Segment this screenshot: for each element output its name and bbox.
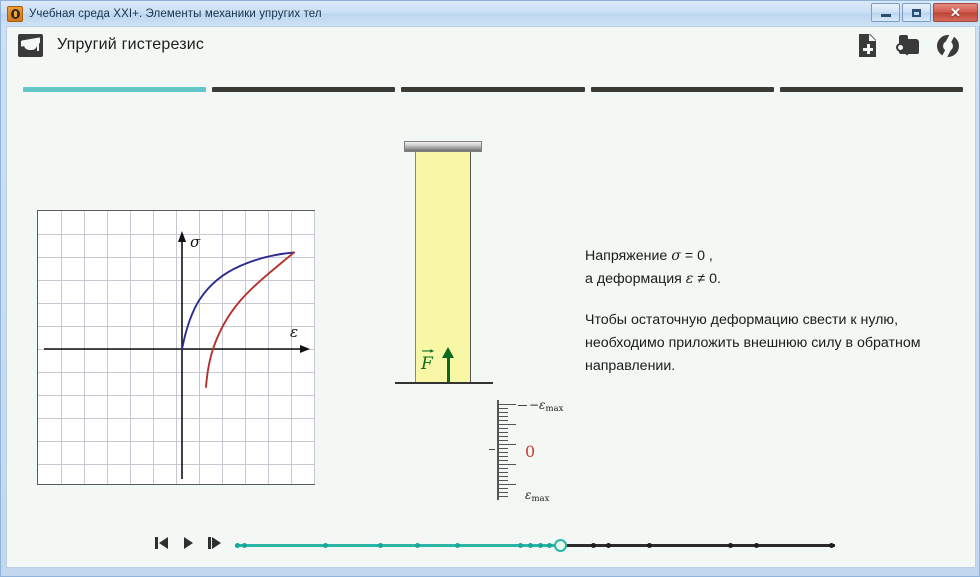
- ruler-tick: [497, 488, 508, 489]
- window-controls: ✕: [871, 3, 978, 22]
- ruler-tick: [497, 460, 508, 461]
- ruler-zero-dash: [489, 449, 495, 450]
- ruler-tick: [497, 412, 508, 413]
- timeline-progress-filled: [235, 544, 561, 547]
- ruler-label-negative-max: −εmax: [529, 398, 563, 414]
- timeline-node[interactable]: [415, 543, 420, 548]
- ruler-label-positive-max: εmax: [525, 488, 549, 504]
- ruler-tick: [497, 476, 508, 477]
- close-icon: ✕: [950, 6, 961, 19]
- unloading-curve: [206, 253, 294, 388]
- play-button[interactable]: [181, 535, 198, 551]
- timeline-node[interactable]: [754, 543, 759, 548]
- chart-plot-area: [38, 211, 316, 486]
- text-line-1: Напряжение σ = 0 ,: [585, 245, 965, 268]
- ruler-tick: [497, 468, 508, 469]
- tab-section-1[interactable]: [23, 87, 206, 92]
- force-letter: F: [421, 354, 433, 374]
- timeline-node[interactable]: [538, 543, 543, 548]
- step-back-icon: [159, 537, 168, 549]
- ruler-tick: [497, 452, 508, 453]
- window-title: Учебная среда XXI+. Элементы механики уп…: [29, 8, 322, 20]
- close-button[interactable]: ✕: [933, 3, 978, 22]
- doc-plus-horizontal: [863, 48, 873, 51]
- timeline-node[interactable]: [547, 543, 552, 548]
- cap-tassel: [37, 43, 39, 51]
- ruler-tick-major: [497, 484, 516, 485]
- ruler-tick: [497, 420, 508, 421]
- text-line-4: необходимо приложить внешнюю силу в обра…: [585, 332, 965, 355]
- ruler-tick: [497, 492, 508, 493]
- rod-base-line: [395, 382, 493, 384]
- timeline-node[interactable]: [242, 543, 247, 548]
- ruler-tick-major: [497, 444, 516, 445]
- maximize-icon: [912, 9, 921, 17]
- timeline-playhead[interactable]: [554, 539, 567, 552]
- timeline-node[interactable]: [518, 543, 523, 548]
- vector-overbar-icon: [422, 347, 434, 354]
- page-title: Упругий гистерезис: [57, 36, 204, 54]
- minimize-icon: [881, 14, 891, 17]
- timeline-node[interactable]: [829, 543, 834, 548]
- app-logo-icon: [7, 6, 23, 22]
- force-arrow-icon: [444, 347, 452, 382]
- force-label: F: [421, 354, 433, 374]
- playback-controls: [155, 535, 224, 551]
- clamp-support: [404, 141, 482, 152]
- step-back-button[interactable]: [155, 535, 172, 551]
- timeline-node[interactable]: [591, 543, 596, 548]
- timeline-node[interactable]: [728, 543, 733, 548]
- timeline-node[interactable]: [323, 543, 328, 548]
- minimize-button[interactable]: [871, 3, 900, 22]
- ruler-label-zero: 0: [525, 442, 535, 461]
- title-bar: Учебная среда XXI+. Элементы механики уп…: [1, 1, 980, 26]
- section-tab-strip: [23, 87, 963, 92]
- timeline-node[interactable]: [235, 543, 240, 548]
- application-window: Учебная среда XXI+. Элементы механики уп…: [0, 0, 980, 577]
- ruler-tick: [497, 440, 508, 441]
- chart-xlabel: ε: [290, 323, 298, 341]
- header-toolbar: [855, 33, 961, 59]
- ruler-tick: [497, 496, 508, 497]
- page-header: Упругий гистерезис: [7, 27, 975, 63]
- graduation-cap-icon: [18, 34, 43, 57]
- ruler-tick-major: [497, 404, 516, 405]
- ruler-tick: [497, 408, 508, 409]
- timeline-progress-remaining: [561, 544, 835, 547]
- timeline-node[interactable]: [455, 543, 460, 548]
- chart-ylabel: σ: [190, 233, 200, 251]
- playback-timeline: [7, 529, 975, 559]
- text-line-3: Чтобы остаточную деформацию свести к нул…: [585, 309, 965, 332]
- cap-body: [24, 43, 37, 50]
- ruler-tick: [497, 416, 508, 417]
- ruler-tick-major: [497, 424, 516, 425]
- ruler-top-dash: [518, 405, 527, 406]
- step-forward-button[interactable]: [207, 535, 224, 551]
- timeline-node[interactable]: [647, 543, 652, 548]
- tab-section-3[interactable]: [401, 87, 584, 92]
- tab-section-5[interactable]: [780, 87, 963, 92]
- ruler-tick: [497, 472, 508, 473]
- ruler-tick: [497, 428, 508, 429]
- help-ring-icon[interactable]: [935, 33, 961, 59]
- text-line-2: а деформация ε ≠ 0.: [585, 268, 965, 291]
- open-folder-search-icon[interactable]: [895, 33, 921, 59]
- chart-axes: [44, 231, 310, 479]
- tab-section-2[interactable]: [212, 87, 395, 92]
- ruler-tick-major: [497, 464, 516, 465]
- ruler-tick: [497, 448, 508, 449]
- strain-ruler: −εmax 0 εmax: [497, 400, 587, 505]
- timeline-node[interactable]: [528, 543, 533, 548]
- ruler-tick: [497, 436, 508, 437]
- ruler-tick: [497, 432, 508, 433]
- arrow-shaft: [447, 355, 450, 382]
- step-back-bar: [155, 537, 158, 549]
- timeline-track[interactable]: [235, 542, 835, 548]
- client-area: Упругий гистерезис: [6, 26, 976, 568]
- play-icon: [184, 537, 193, 549]
- tab-section-4[interactable]: [591, 87, 774, 92]
- simulation-stage: σ ε F: [7, 97, 975, 552]
- timeline-node[interactable]: [378, 543, 383, 548]
- maximize-button[interactable]: [902, 3, 931, 22]
- step-forward-bar: [208, 537, 211, 549]
- stress-strain-chart[interactable]: σ ε: [37, 210, 315, 485]
- ruler-tick: [497, 456, 508, 457]
- text-line-5: направлении.: [585, 355, 965, 378]
- new-document-icon[interactable]: [855, 33, 881, 59]
- step-forward-icon: [212, 537, 221, 549]
- timeline-node[interactable]: [606, 543, 611, 548]
- ruler-tick: [497, 480, 508, 481]
- explanation-text: Напряжение σ = 0 , а деформация ε ≠ 0. Ч…: [585, 245, 965, 378]
